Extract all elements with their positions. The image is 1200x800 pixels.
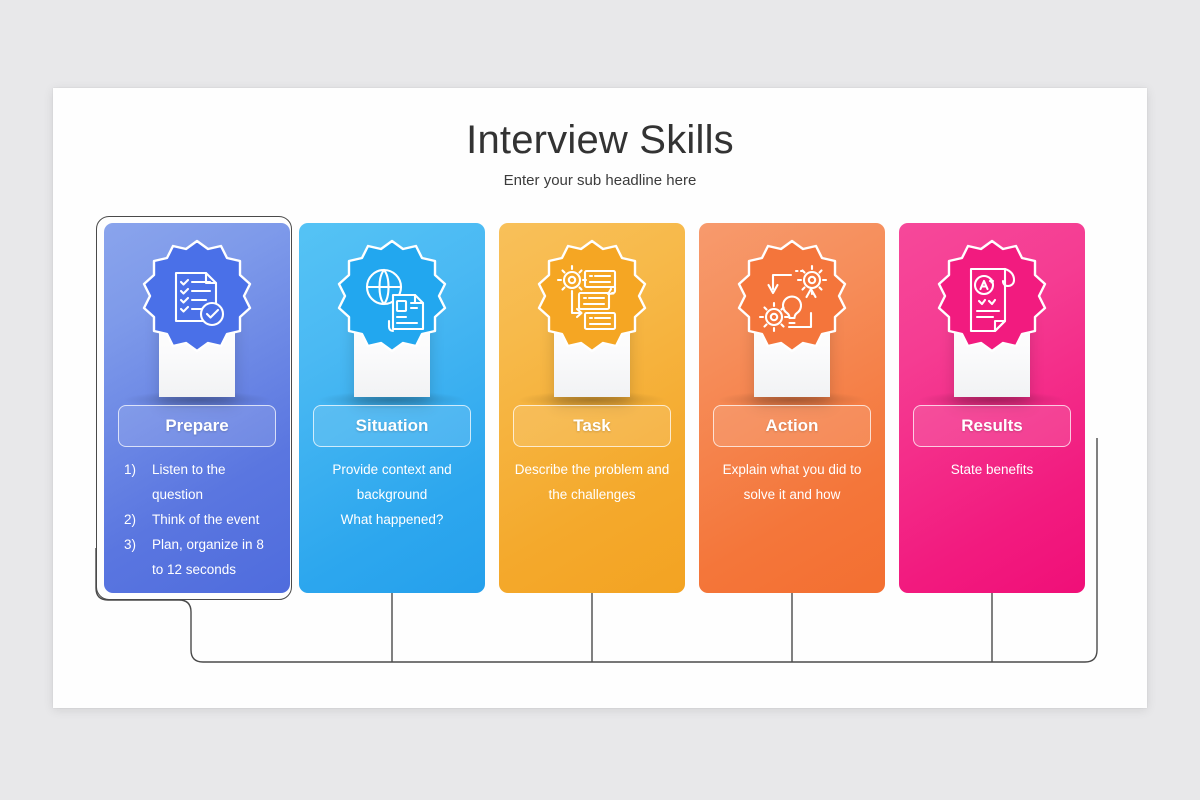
badge-task	[527, 235, 657, 365]
card-action[interactable]: Action Explain what you did to solve it …	[699, 223, 885, 593]
card-text-line: Describe the problem and the challenges	[509, 457, 675, 507]
selection-frame-prepare[interactable]	[96, 216, 292, 600]
card-text-line: What happened?	[309, 507, 475, 532]
card-task[interactable]: Task Describe the problem and the challe…	[499, 223, 685, 593]
card-label-task[interactable]: Task	[513, 405, 671, 447]
badge-action	[727, 235, 857, 365]
card-body-situation: Provide context and background What happ…	[309, 457, 475, 532]
card-label-results[interactable]: Results	[913, 405, 1071, 447]
badge-situation	[327, 235, 457, 365]
card-label-action[interactable]: Action	[713, 405, 871, 447]
badge-results	[927, 235, 1057, 365]
card-body-task: Describe the problem and the challenges	[509, 457, 675, 507]
card-results[interactable]: Results State benefits	[899, 223, 1085, 593]
card-text-line: Explain what you did to solve it and how	[709, 457, 875, 507]
card-body-action: Explain what you did to solve it and how	[709, 457, 875, 507]
card-body-results: State benefits	[909, 457, 1075, 482]
slide-canvas: Interview Skills Enter your sub headline…	[53, 88, 1147, 708]
card-label-situation[interactable]: Situation	[313, 405, 471, 447]
card-text-line: State benefits	[909, 457, 1075, 482]
card-text-line: Provide context and background	[309, 457, 475, 507]
card-situation[interactable]: Situation Provide context and background…	[299, 223, 485, 593]
